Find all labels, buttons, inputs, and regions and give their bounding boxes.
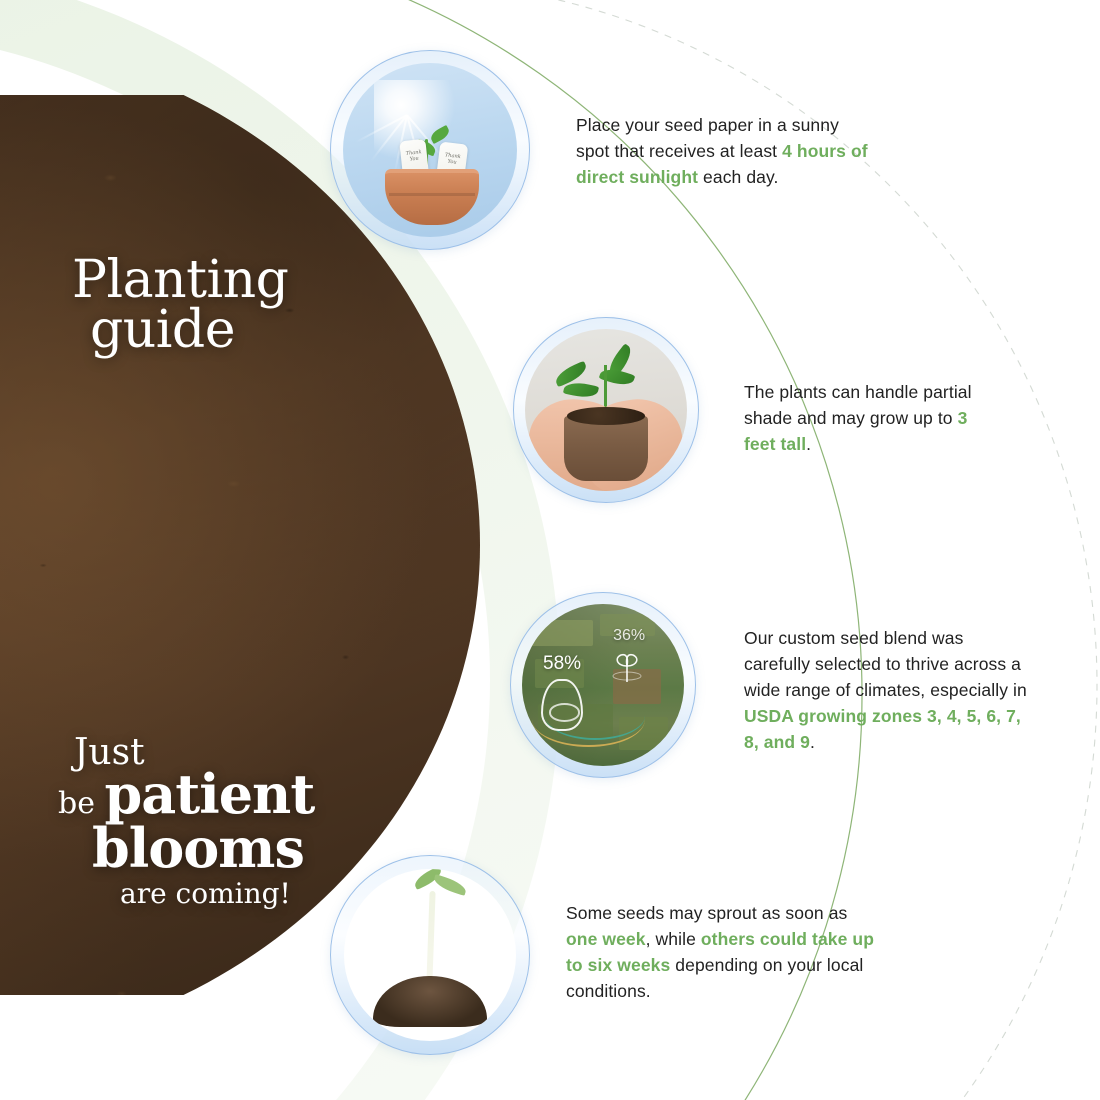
step-2-image-circle <box>513 317 699 503</box>
page-title-line2: guide <box>72 305 288 355</box>
water-drop-icon <box>541 679 583 731</box>
sprout-icon <box>609 649 645 683</box>
soil-mound <box>373 976 487 1028</box>
step-1-text: Place your seed paper in a sunny spot th… <box>576 113 876 191</box>
hands-holding-seedling-photo <box>525 329 687 491</box>
step-4-text-part-3: , while <box>646 929 701 949</box>
step-3-highlight: USDA growing zones 3, 4, 5, 6, 7, 8, and… <box>744 706 1021 752</box>
terracotta-pot <box>385 169 479 225</box>
seed-paper-pot-photo: Thank You Thank You <box>343 63 517 237</box>
step-4-highlight-1: one week <box>566 929 646 949</box>
step-3-text-part-1: Our custom seed blend was carefully sele… <box>744 628 1027 700</box>
step-2-text-part-1: The plants can handle partial shade and … <box>744 382 972 428</box>
step-2-text: The plants can handle partial shade and … <box>744 380 994 458</box>
tagline-blooms: blooms <box>58 821 314 876</box>
step-1-image-circle: Thank You Thank You <box>330 50 530 250</box>
step-3-text: Our custom seed blend was carefully sele… <box>744 626 1029 755</box>
tagline: Just be patient blooms are coming! <box>58 735 314 911</box>
step-1-text-part-3: each day. <box>698 167 778 187</box>
step-3-image-circle: 36% 58% <box>510 592 696 778</box>
water-percent-label: 58% <box>543 653 581 675</box>
seed-card-text: Thank You <box>441 152 464 167</box>
clay-pot <box>564 416 648 481</box>
sprout-percent-label: 36% <box>613 627 645 645</box>
sprout-in-soil-photo <box>344 869 516 1041</box>
step-4-text: Some seeds may sprout as soon as one wee… <box>566 901 876 1005</box>
step-2-text-part-3: . <box>806 434 811 454</box>
step-4-image-circle <box>330 855 530 1055</box>
aerial-farmland-photo: 36% 58% <box>522 604 684 766</box>
seed-card-text: Thank You <box>404 149 425 164</box>
tagline-coming: are coming! <box>58 876 314 911</box>
step-3-text-part-3: . <box>810 732 815 752</box>
page-title: Planting guide <box>72 255 288 356</box>
step-4-text-part-1: Some seeds may sprout as soon as <box>566 903 847 923</box>
planting-guide-poster: Planting guide Just be patient blooms ar… <box>0 0 1100 1100</box>
